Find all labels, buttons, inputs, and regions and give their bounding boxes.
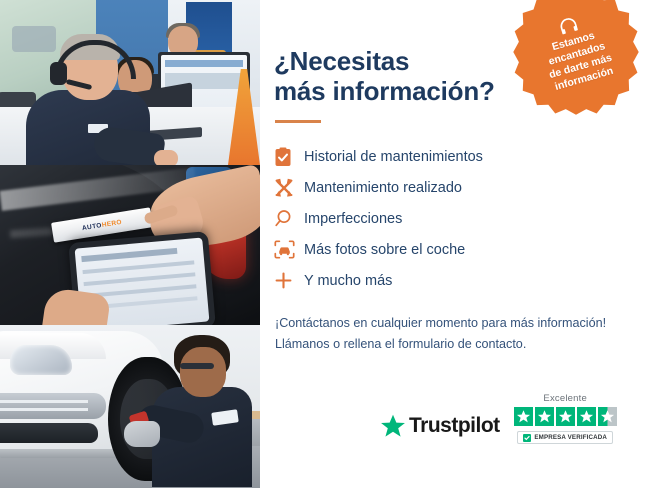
trustpilot-wordmark: Trustpilot	[409, 414, 500, 438]
list-item: Y mucho más	[274, 265, 624, 296]
feature-label: Imperfecciones	[304, 211, 402, 227]
list-item: Mantenimiento realizado	[274, 172, 624, 203]
rating-label: Excelente	[543, 393, 587, 404]
call-center-agents-photo	[0, 0, 260, 165]
clipboard-check-icon	[274, 147, 304, 167]
contact-line-2: Llámanos o rellena el formulario de cont…	[275, 334, 624, 354]
contact-text: ¡Contáctanos en cualquier momento para m…	[275, 313, 624, 354]
magnifier-icon	[274, 209, 304, 228]
heading-line-1: ¿Necesitas	[274, 46, 514, 76]
check-icon	[523, 434, 531, 442]
trustpilot-rating: Excelente EMPRESA VERIFICADA	[514, 393, 617, 444]
list-item: Más fotos sobre el coche	[274, 234, 624, 265]
tools-cross-icon	[274, 178, 304, 198]
verified-label: EMPRESA VERIFICADA	[534, 434, 607, 441]
trustpilot-logo: Trustpilot	[380, 413, 500, 439]
information-banner: AUTOHERO	[0, 0, 650, 488]
feature-label: Historial de mantenimientos	[304, 149, 483, 165]
star-tile	[556, 407, 575, 426]
trustpilot-widget[interactable]: Trustpilot Excelente EMPRESA VERIFICADA	[380, 393, 617, 444]
plus-icon	[274, 271, 304, 290]
status-badge: Estamos encantados de darte más informac…	[512, 0, 640, 116]
star-tile	[514, 407, 533, 426]
heading-line-2: más información?	[274, 76, 514, 106]
feature-label: Y mucho más	[304, 273, 392, 289]
technician	[146, 335, 254, 485]
content-panel: Estamos encantados de darte más informac…	[260, 0, 650, 488]
feature-label: Mantenimiento realizado	[304, 180, 462, 196]
list-item: Imperfecciones	[274, 203, 624, 234]
contact-line-1: ¡Contáctanos en cualquier momento para m…	[275, 313, 624, 333]
car-scan-icon	[274, 240, 304, 259]
trustpilot-star-icon	[380, 413, 406, 439]
star-tile	[577, 407, 596, 426]
heading-divider	[275, 120, 321, 123]
ruler-brand-label: AUTOHERO	[82, 218, 123, 231]
star-rating	[514, 407, 617, 426]
page-title: ¿Necesitas más información?	[274, 46, 514, 106]
inspection-ruler-photo: AUTOHERO	[0, 165, 260, 325]
feature-list: Historial de mantenimientos Mantenimient…	[274, 141, 624, 296]
wheel-inspection-photo	[0, 325, 260, 488]
photo-column: AUTOHERO	[0, 0, 260, 488]
front-agent-with-headset	[26, 38, 150, 165]
star-tile-half	[598, 407, 617, 426]
list-item: Historial de mantenimientos	[274, 141, 624, 172]
feature-label: Más fotos sobre el coche	[304, 242, 465, 258]
star-tile	[535, 407, 554, 426]
status-badge: EMPRESA VERIFICADA	[517, 431, 613, 444]
